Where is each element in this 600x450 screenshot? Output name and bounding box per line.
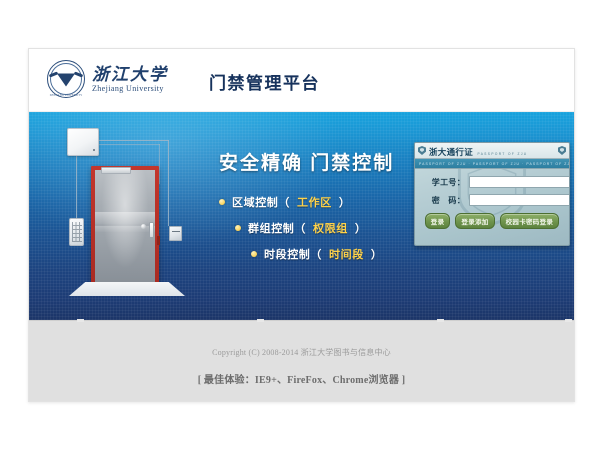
login-button-row: 登录 登录添加 校园卡密码登录 [415,212,569,229]
browser-support-note: [ 最佳体验：IE9+、FireFox、Chrome浏览器 ] [29,371,574,386]
floor-platform [69,282,185,296]
wire-to-card-reader [168,140,169,226]
card-reader-icon [169,226,182,241]
feature-tail: ） [371,246,383,262]
login-panel-title-texts: 浙大通行证 PASSPORT OF ZJU [429,143,528,159]
bullet-dot-icon [251,251,257,257]
feature-label: 群组控制（ [248,220,306,236]
form-row-userid: 学工号： [423,176,561,188]
brand-name-en: Zhejiang University [92,85,168,93]
feature-item-time-control: 时段控制（ 时间段 ） [251,246,429,262]
password-label: 密 码： [423,195,469,206]
footer-content: Copyright (C) 2008-2014 浙江大学图书与信息中心 [ 最佳… [29,321,574,386]
site-header: ZHEJIANG UNIVERSITY 浙江大学 Zhejiang Univer… [29,49,574,112]
page-card: ZHEJIANG UNIVERSITY 浙江大学 Zhejiang Univer… [28,48,575,402]
brand-block[interactable]: ZHEJIANG UNIVERSITY 浙江大学 Zhejiang Univer… [47,60,168,98]
seal-arc-text: ZHEJIANG UNIVERSITY [47,94,85,97]
feature-tail: ） [355,220,367,236]
feature-item-group-control: 群组控制（ 权限组 ） [235,220,429,236]
door-access-illustration [47,122,197,312]
door-frame [91,166,159,286]
wire-controller-to-keypad [76,154,77,218]
site-footer: Copyright (C) 2008-2014 浙江大学图书与信息中心 [ 最佳… [29,320,574,402]
feature-list: 区域控制（ 工作区 ） 群组控制（ 权限组 ） 时段控制（ 时间段 ） [219,194,429,262]
wire-controller-top [97,140,169,141]
login-add-button[interactable]: 登录添加 [455,213,494,229]
campus-card-password-login-button[interactable]: 校园卡密码登录 [500,213,560,229]
feature-item-area-control: 区域控制（ 工作区 ） [219,194,429,210]
login-form: 学工号： 密 码： [415,169,569,206]
page-title: 门禁管理平台 [209,69,320,94]
zhejiang-university-seal-icon: ZHEJIANG UNIVERSITY [47,60,85,98]
passport-watermark-strip: PASSPORT OF ZJU · PASSPORT OF ZJU · PASS… [415,159,569,169]
door-closer-icon [101,167,131,174]
bullet-dot-icon [219,199,225,205]
brand-names: 浙江大学 Zhejiang University [92,66,168,93]
login-panel-title: 浙大通行证 [429,147,473,157]
keypad-reader-icon [69,218,84,246]
bullet-dot-icon [235,225,241,231]
door-handle-icon [149,222,154,238]
password-input[interactable] [469,194,570,206]
login-panel-subtitle: PASSPORT OF ZJU [477,152,527,156]
login-button[interactable]: 登录 [425,213,451,229]
form-row-password: 密 码： [423,194,561,206]
passport-strip-text: PASSPORT OF ZJU · PASSPORT OF ZJU · PASS… [415,162,569,166]
shield-icon [558,146,566,155]
feature-label: 区域控制（ [232,194,290,210]
feature-accent: 权限组 [313,220,348,236]
login-panel: 浙大通行证 PASSPORT OF ZJU PASSPORT OF ZJU · … [414,142,570,246]
wire-secondary-top [97,144,160,145]
door-knob-icon [141,224,146,229]
feature-accent: 工作区 [297,194,332,210]
banner-copy: 安全精确 门禁控制 区域控制（ 工作区 ） 群组控制（ 权限组 ） 时段控制（ [219,148,429,272]
brand-name-cn: 浙江大学 [92,66,168,83]
wire-secondary-down [159,144,160,184]
shield-icon [418,146,426,155]
copyright-text: Copyright (C) 2008-2014 浙江大学图书与信息中心 [29,347,574,358]
access-controller-box-icon [67,128,99,156]
feature-label: 时段控制（ [264,246,322,262]
banner-headline: 安全精确 门禁控制 [219,148,429,175]
door-strike-plate [157,236,160,245]
door-leaf [95,170,155,286]
userid-label: 学工号： [423,177,469,188]
hero-banner: 安全精确 门禁控制 区域控制（ 工作区 ） 群组控制（ 权限组 ） 时段控制（ [29,112,574,320]
login-panel-titlebar: 浙大通行证 PASSPORT OF ZJU [415,143,569,159]
feature-accent: 时间段 [329,246,364,262]
feature-tail: ） [339,194,351,210]
userid-input[interactable] [469,176,570,188]
footer-notches [29,319,574,322]
